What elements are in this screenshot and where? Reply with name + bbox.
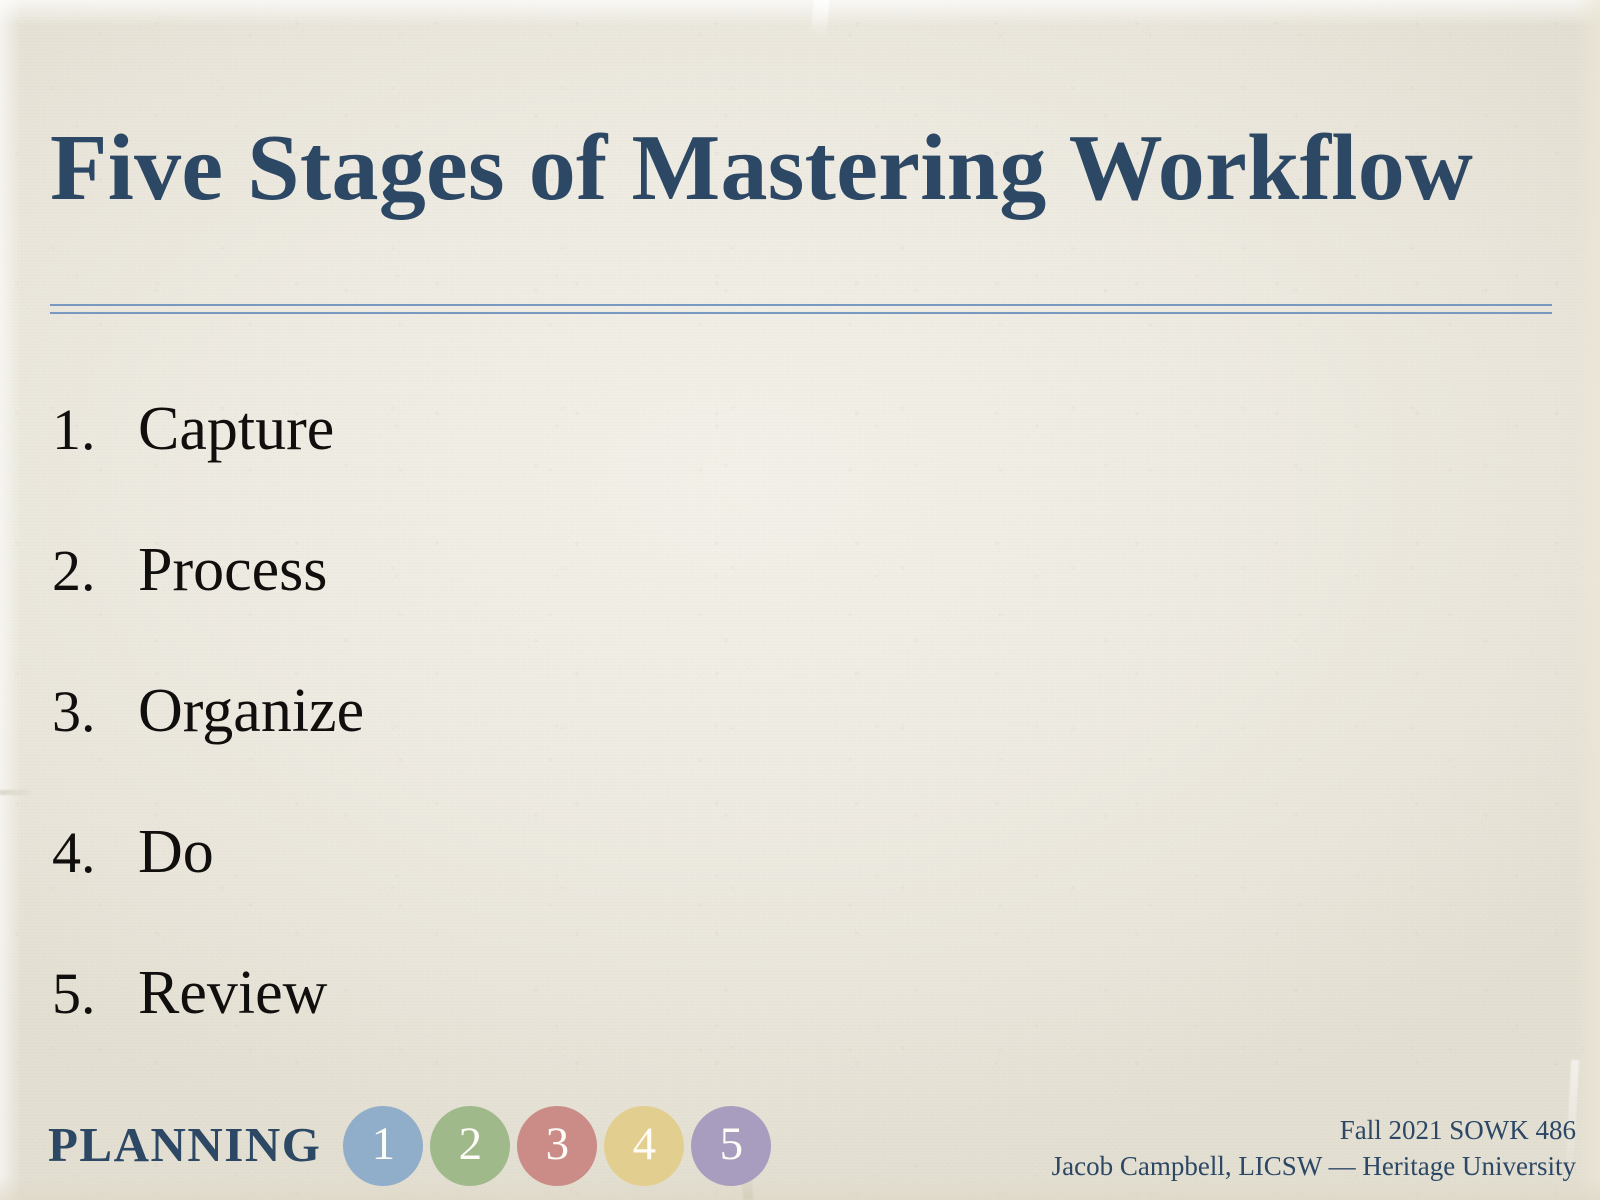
progress-dot-1[interactable]: 1	[343, 1106, 423, 1186]
progress-dot-number: 4	[633, 1121, 657, 1168]
author-line: Jacob Campbell, LICSW — Heritage Univers…	[1052, 1148, 1576, 1184]
title-divider	[50, 304, 1552, 315]
list-item-number: 1.	[52, 401, 138, 459]
list-item-label: Review	[138, 962, 327, 1024]
numbered-stage-list: 1. Capture 2. Process 3. Organize 4. Do …	[52, 398, 1052, 1103]
list-item: 1. Capture	[52, 398, 1052, 539]
slide-title: Five Stages of Mastering Workflow	[50, 118, 1560, 220]
progress-dot-5[interactable]: 5	[691, 1106, 771, 1186]
progress-dot-number: 3	[546, 1121, 570, 1168]
progress-dot-group: 1 2 3 4 5	[343, 1106, 778, 1186]
progress-dot-number: 5	[720, 1121, 744, 1168]
paper-crease-left	[0, 790, 34, 795]
list-item: 2. Process	[52, 539, 1052, 680]
list-item: 3. Organize	[52, 680, 1052, 821]
list-item-number: 3.	[52, 683, 138, 741]
footer-progress-area: PLANNING 1 2 3 4 5	[48, 1106, 778, 1186]
progress-dot-4[interactable]: 4	[604, 1106, 684, 1186]
progress-dot-3[interactable]: 3	[517, 1106, 597, 1186]
list-item-label: Process	[138, 539, 327, 601]
list-item-number: 2.	[52, 542, 138, 600]
section-label: PLANNING	[48, 1120, 321, 1173]
paper-edge-right	[1574, 0, 1600, 1200]
divider-line-upper	[50, 304, 1552, 306]
divider-line-lower	[50, 312, 1552, 314]
list-item-label: Do	[138, 821, 214, 883]
paper-crease-top	[810, 0, 830, 39]
progress-dot-number: 1	[372, 1121, 396, 1168]
progress-dot-number: 2	[459, 1121, 483, 1168]
list-item-label: Capture	[138, 398, 334, 460]
list-item: 4. Do	[52, 821, 1052, 962]
list-item: 5. Review	[52, 962, 1052, 1103]
footer-attribution: Fall 2021 SOWK 486 Jacob Campbell, LICSW…	[1052, 1112, 1576, 1184]
paper-edge-left	[0, 0, 22, 1200]
list-item-number: 4.	[52, 824, 138, 882]
course-line: Fall 2021 SOWK 486	[1052, 1112, 1576, 1148]
list-item-number: 5.	[52, 965, 138, 1023]
progress-dot-2[interactable]: 2	[430, 1106, 510, 1186]
slide-canvas: Five Stages of Mastering Workflow 1. Cap…	[0, 0, 1600, 1200]
paper-edge-top	[0, 0, 1600, 26]
list-item-label: Organize	[138, 680, 364, 742]
